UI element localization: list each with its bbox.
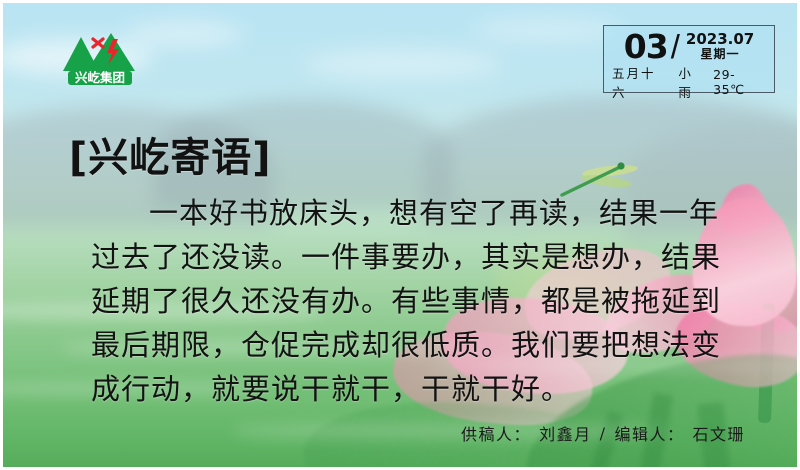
weather-text: 小雨	[678, 63, 704, 101]
logo-wordmark: 兴屹集团	[75, 70, 125, 85]
editor-label: 编辑人：	[614, 421, 684, 445]
date-badge-top: 03 / 2023.07 星期一	[612, 30, 766, 63]
body-line: 过去了还没读。一件事要办，其实是想办，结果	[91, 235, 721, 279]
cloud-icon	[473, 17, 623, 43]
poster-card: 兴屹集团 03 / 2023.07 星期一 五月十六 小雨 29-35℃ [兴屹…	[0, 0, 800, 470]
body-line: 延期了很久还没有办。有些事情，都是被拖延到	[91, 279, 721, 323]
body-text: 一本好书放床头，想有空了再读，结果一年 过去了还没读。一件事要办，其实是想办，结…	[91, 191, 721, 411]
body-line: 最后期限，仓促完成却很低质。我们要把想法变	[91, 323, 721, 367]
credits-footer: 供稿人： 刘鑫月 / 编辑人： 石文珊	[461, 421, 745, 445]
mountain-lightning-logo-icon[interactable]: 兴屹集团	[55, 25, 145, 89]
page-title: [兴屹寄语]	[69, 125, 272, 183]
body-line: 一本好书放床头，想有空了再读，结果一年	[91, 191, 721, 235]
date-badge: 03 / 2023.07 星期一 五月十六 小雨 29-35℃	[603, 25, 775, 93]
date-year-week: 2023.07 星期一	[686, 32, 754, 60]
credits-separator: /	[600, 424, 607, 443]
lunar-date: 五月十六	[612, 63, 669, 101]
date-day: 03	[624, 30, 668, 63]
editor-name: 石文珊	[692, 421, 745, 445]
body-line: 成行动，就要说干就干，干就干好。	[91, 367, 721, 411]
date-weekday: 星期一	[701, 48, 740, 61]
date-slash: /	[671, 30, 680, 63]
contributor-label: 供稿人：	[461, 421, 531, 445]
date-year-month: 2023.07	[686, 32, 754, 48]
date-badge-bottom: 五月十六 小雨 29-35℃	[612, 63, 766, 101]
contributor-name: 刘鑫月	[539, 421, 592, 445]
cloud-icon	[303, 49, 503, 79]
temperature-range: 29-35℃	[713, 67, 766, 97]
